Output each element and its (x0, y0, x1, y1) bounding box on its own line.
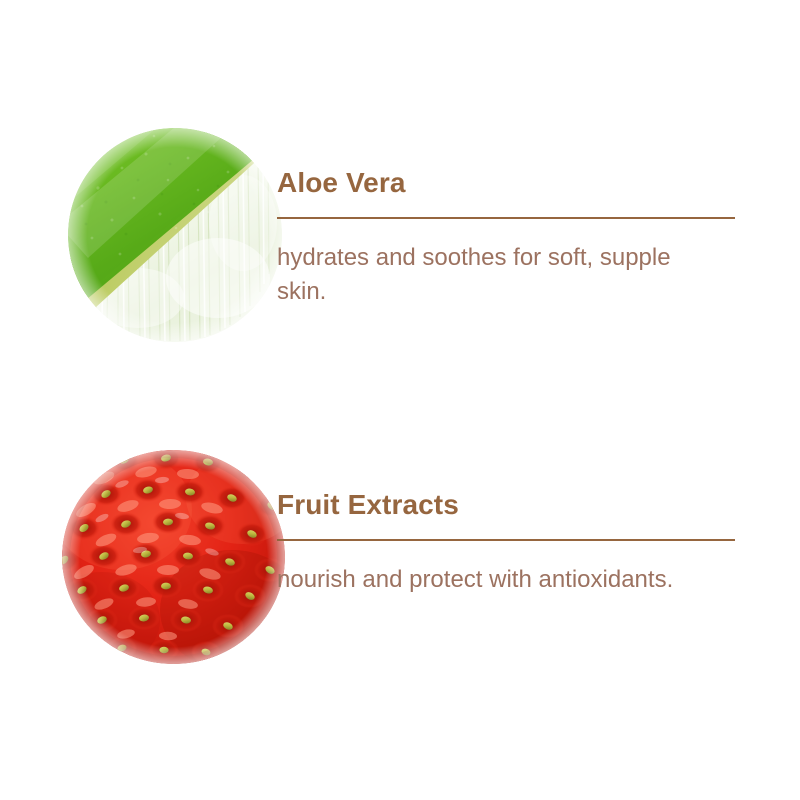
divider-rule-aloe-vera (277, 217, 735, 219)
ingredient-description-fruit-extracts: nourish and protect with antioxidants. (277, 563, 697, 597)
ingredients-panel: Aloe Vera hydrates and soothes for soft,… (0, 0, 800, 800)
aloe-vera-leaf-gel-photo (68, 128, 282, 342)
ingredient-title-fruit-extracts: Fruit Extracts (277, 490, 737, 521)
ingredient-title-aloe-vera: Aloe Vera (277, 168, 737, 199)
fruit-extracts-text-column: Fruit Extracts nourish and protect with … (277, 490, 737, 597)
aloe-vera-text-column: Aloe Vera hydrates and soothes for soft,… (277, 168, 737, 309)
strawberry-macro-photo (62, 450, 285, 664)
ingredient-description-aloe-vera: hydrates and soothes for soft, supple sk… (277, 241, 697, 309)
divider-rule-fruit-extracts (277, 539, 735, 541)
